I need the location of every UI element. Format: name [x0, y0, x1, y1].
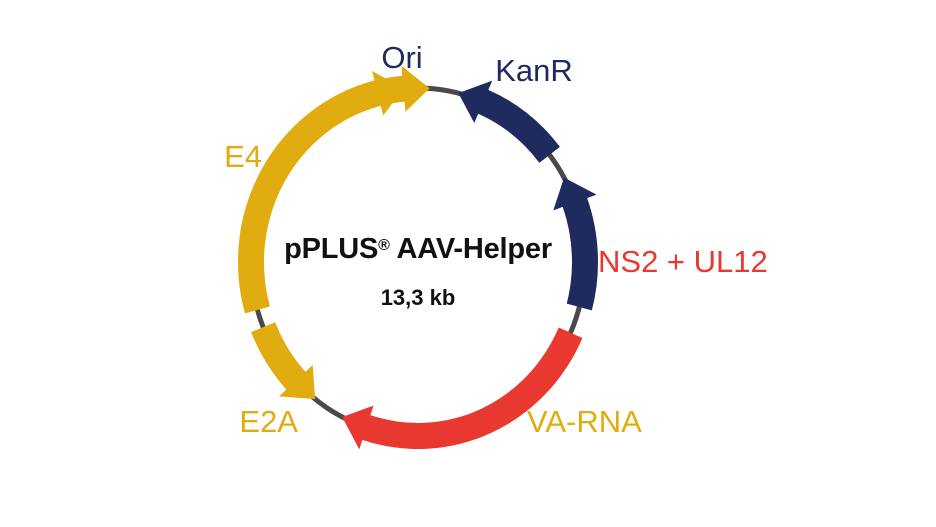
- feature-label-e4: E4: [224, 139, 262, 174]
- feature-label-ori: Ori: [381, 40, 422, 75]
- feature-arc-e4[interactable]: [240, 66, 430, 240]
- feature-label-va-rna: VA-RNA: [527, 404, 642, 439]
- plasmid-name-label: pPLUS® AAV-Helper: [284, 233, 552, 265]
- feature-label-kanr: KanR: [495, 53, 573, 88]
- plasmid-name-base: pPLUS: [284, 233, 378, 265]
- plasmid-name-rest: AAV-Helper: [390, 233, 552, 265]
- plasmid-map-figure: OriKanRNS2 + UL12VA-RNAE2AE4 pPLUS® AAV-…: [0, 0, 936, 527]
- registered-trademark-symbol: ®: [378, 237, 390, 254]
- feature-label-ns2-ul12: NS2 + UL12: [598, 244, 768, 279]
- plasmid-size-label: 13,3 kb: [381, 285, 456, 310]
- feature-arc-va-rna[interactable]: [251, 322, 315, 399]
- feature-label-e2a: E2A: [239, 404, 298, 439]
- feature-arc-kanr[interactable]: [553, 178, 598, 311]
- plasmid-diagram: OriKanRNS2 + UL12VA-RNAE2AE4 pPLUS® AAV-…: [0, 0, 936, 527]
- feature-arc-ori[interactable]: [458, 81, 559, 163]
